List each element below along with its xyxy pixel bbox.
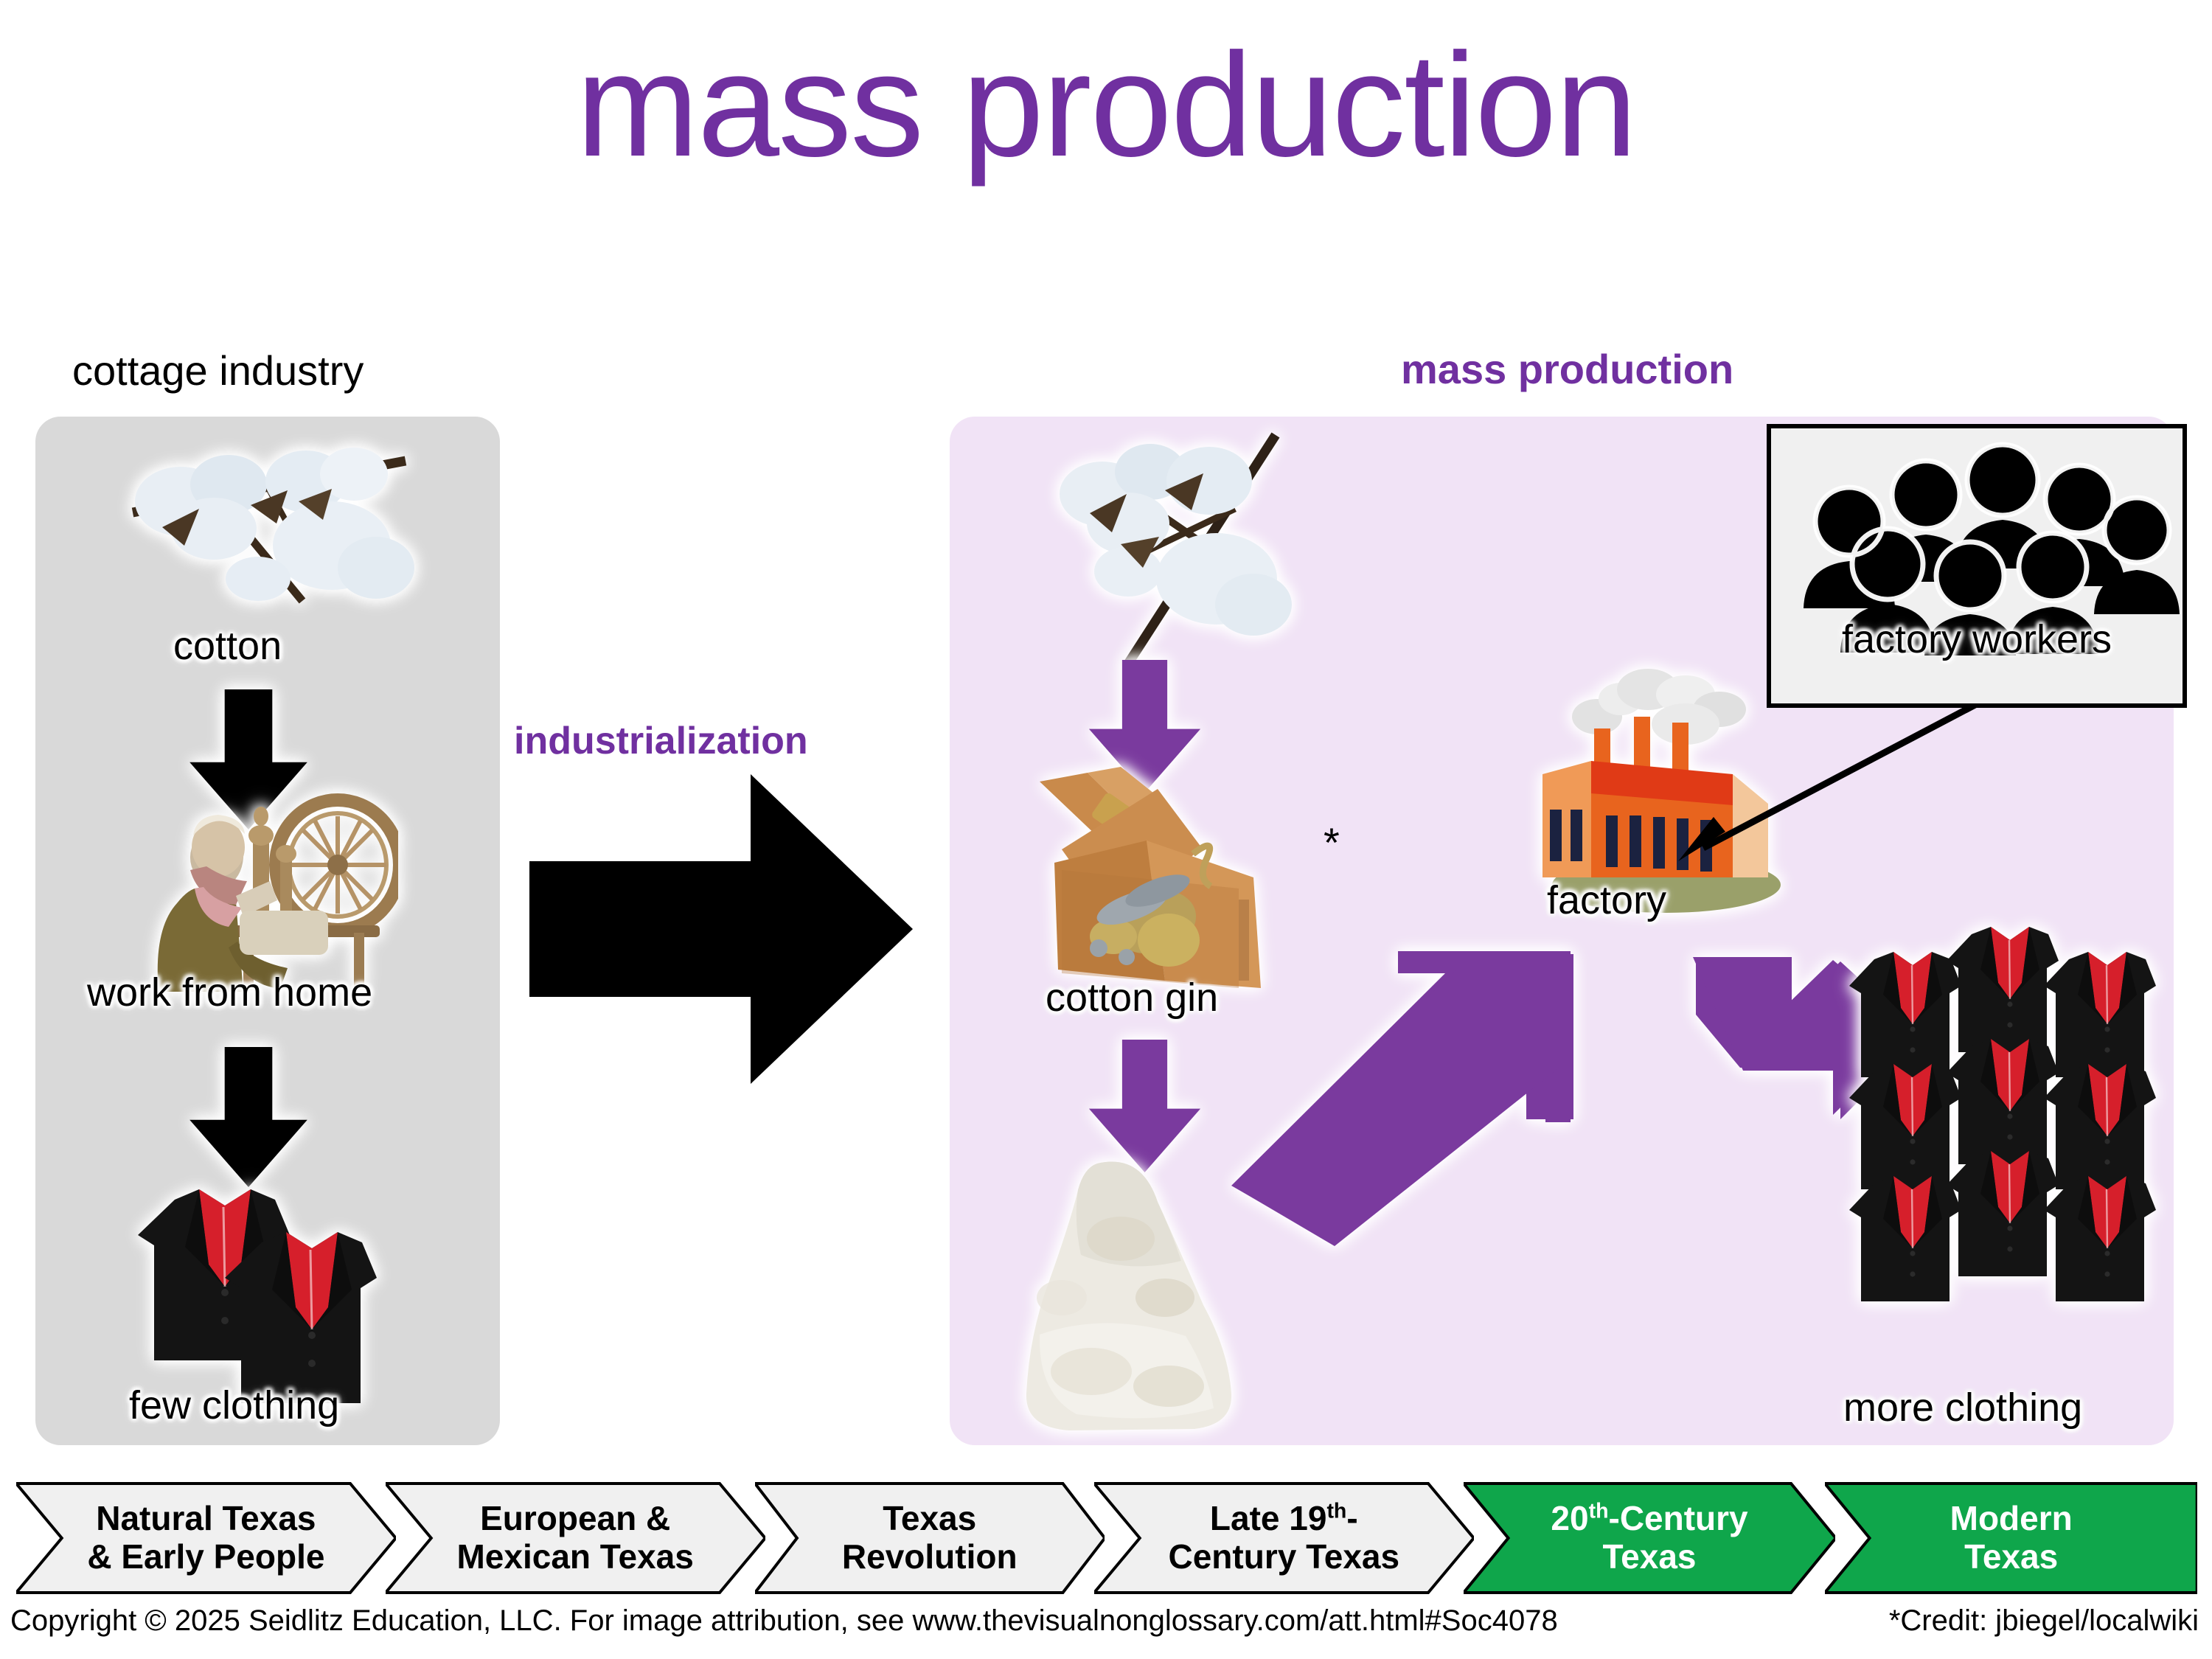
spinning-wheel-icon [133, 771, 398, 992]
timeline-step-4-line2: Century Texas [1169, 1538, 1400, 1576]
infographic-page: mass production cottage industry mass pr… [0, 0, 2212, 1659]
timeline-step-2-line2: Mexican Texas [456, 1538, 693, 1576]
cotton-gin-label: cotton gin [1046, 975, 1218, 1020]
timeline-step-1-line2: & Early People [87, 1538, 324, 1576]
timeline-step-2[interactable]: European & Mexican Texas [386, 1482, 765, 1594]
credit-text: *Credit: jbiegel/localwiki [1889, 1604, 2199, 1638]
timeline-step-6-line2: Texas [1950, 1538, 2073, 1576]
industrialization-arrow-icon [529, 774, 913, 1084]
timeline-step-5-line2: Texas [1551, 1538, 1747, 1576]
timeline-step-3[interactable]: Texas Revolution [755, 1482, 1105, 1594]
timeline-step-6-line1: Modern [1950, 1500, 2073, 1538]
industrialization-caption: industrialization [514, 719, 808, 763]
work-from-home-label: work from home [87, 970, 372, 1015]
factory-workers-callout: factory workers [1767, 424, 2187, 708]
timeline-step-4[interactable]: Late 19th- Century Texas [1094, 1482, 1474, 1594]
mass-production-caption: mass production [1401, 345, 1733, 393]
factory-workers-label: factory workers [1771, 616, 2183, 662]
diagonal-up-arrow-icon [1224, 951, 1607, 1246]
cotton-label-left: cotton [173, 623, 282, 669]
nine-suits-icon [1836, 918, 2190, 1427]
copyright-text: Copyright © 2025 Seidlitz Education, LLC… [10, 1604, 1558, 1638]
timeline-step-4-sup: th [1326, 1500, 1346, 1523]
timeline-step-5-sup: th [1589, 1500, 1609, 1523]
page-title: mass production [0, 28, 2212, 183]
cottage-industry-caption: cottage industry [72, 347, 364, 394]
timeline-step-5[interactable]: 20th-Century Texas [1464, 1482, 1836, 1594]
cotton-boll-icon [111, 431, 420, 653]
timeline-step-1[interactable]: Natural Texas & Early People [16, 1482, 396, 1594]
footnote-marker: * [1324, 818, 1340, 866]
timeline-step-1-line1: Natural Texas [87, 1500, 324, 1538]
timeline-step-5-line1: 20 [1551, 1499, 1588, 1537]
timeline-step-4-line1: Late 19 [1210, 1499, 1327, 1537]
timeline-step-6[interactable]: Modern Texas [1825, 1482, 2197, 1594]
callout-leader-line-icon [1659, 693, 1991, 863]
few-clothing-label: few clothing [129, 1382, 339, 1428]
timeline-step-3-line1: Texas [842, 1500, 1018, 1538]
more-clothing-label: more clothing [1843, 1385, 2082, 1430]
timeline-step-5-tail: -Century [1609, 1499, 1748, 1537]
timeline-step-2-line1: European & [456, 1500, 693, 1538]
timeline: Natural Texas & Early People European & … [16, 1482, 2197, 1594]
factory-label: factory [1547, 877, 1666, 923]
down-arrow-icon-2 [178, 1047, 319, 1187]
timeline-step-4-tail: - [1346, 1499, 1357, 1537]
cotton-boll-icon-right [1032, 420, 1342, 671]
timeline-step-3-line2: Revolution [842, 1538, 1018, 1576]
cotton-bale-icon [1010, 1150, 1261, 1445]
